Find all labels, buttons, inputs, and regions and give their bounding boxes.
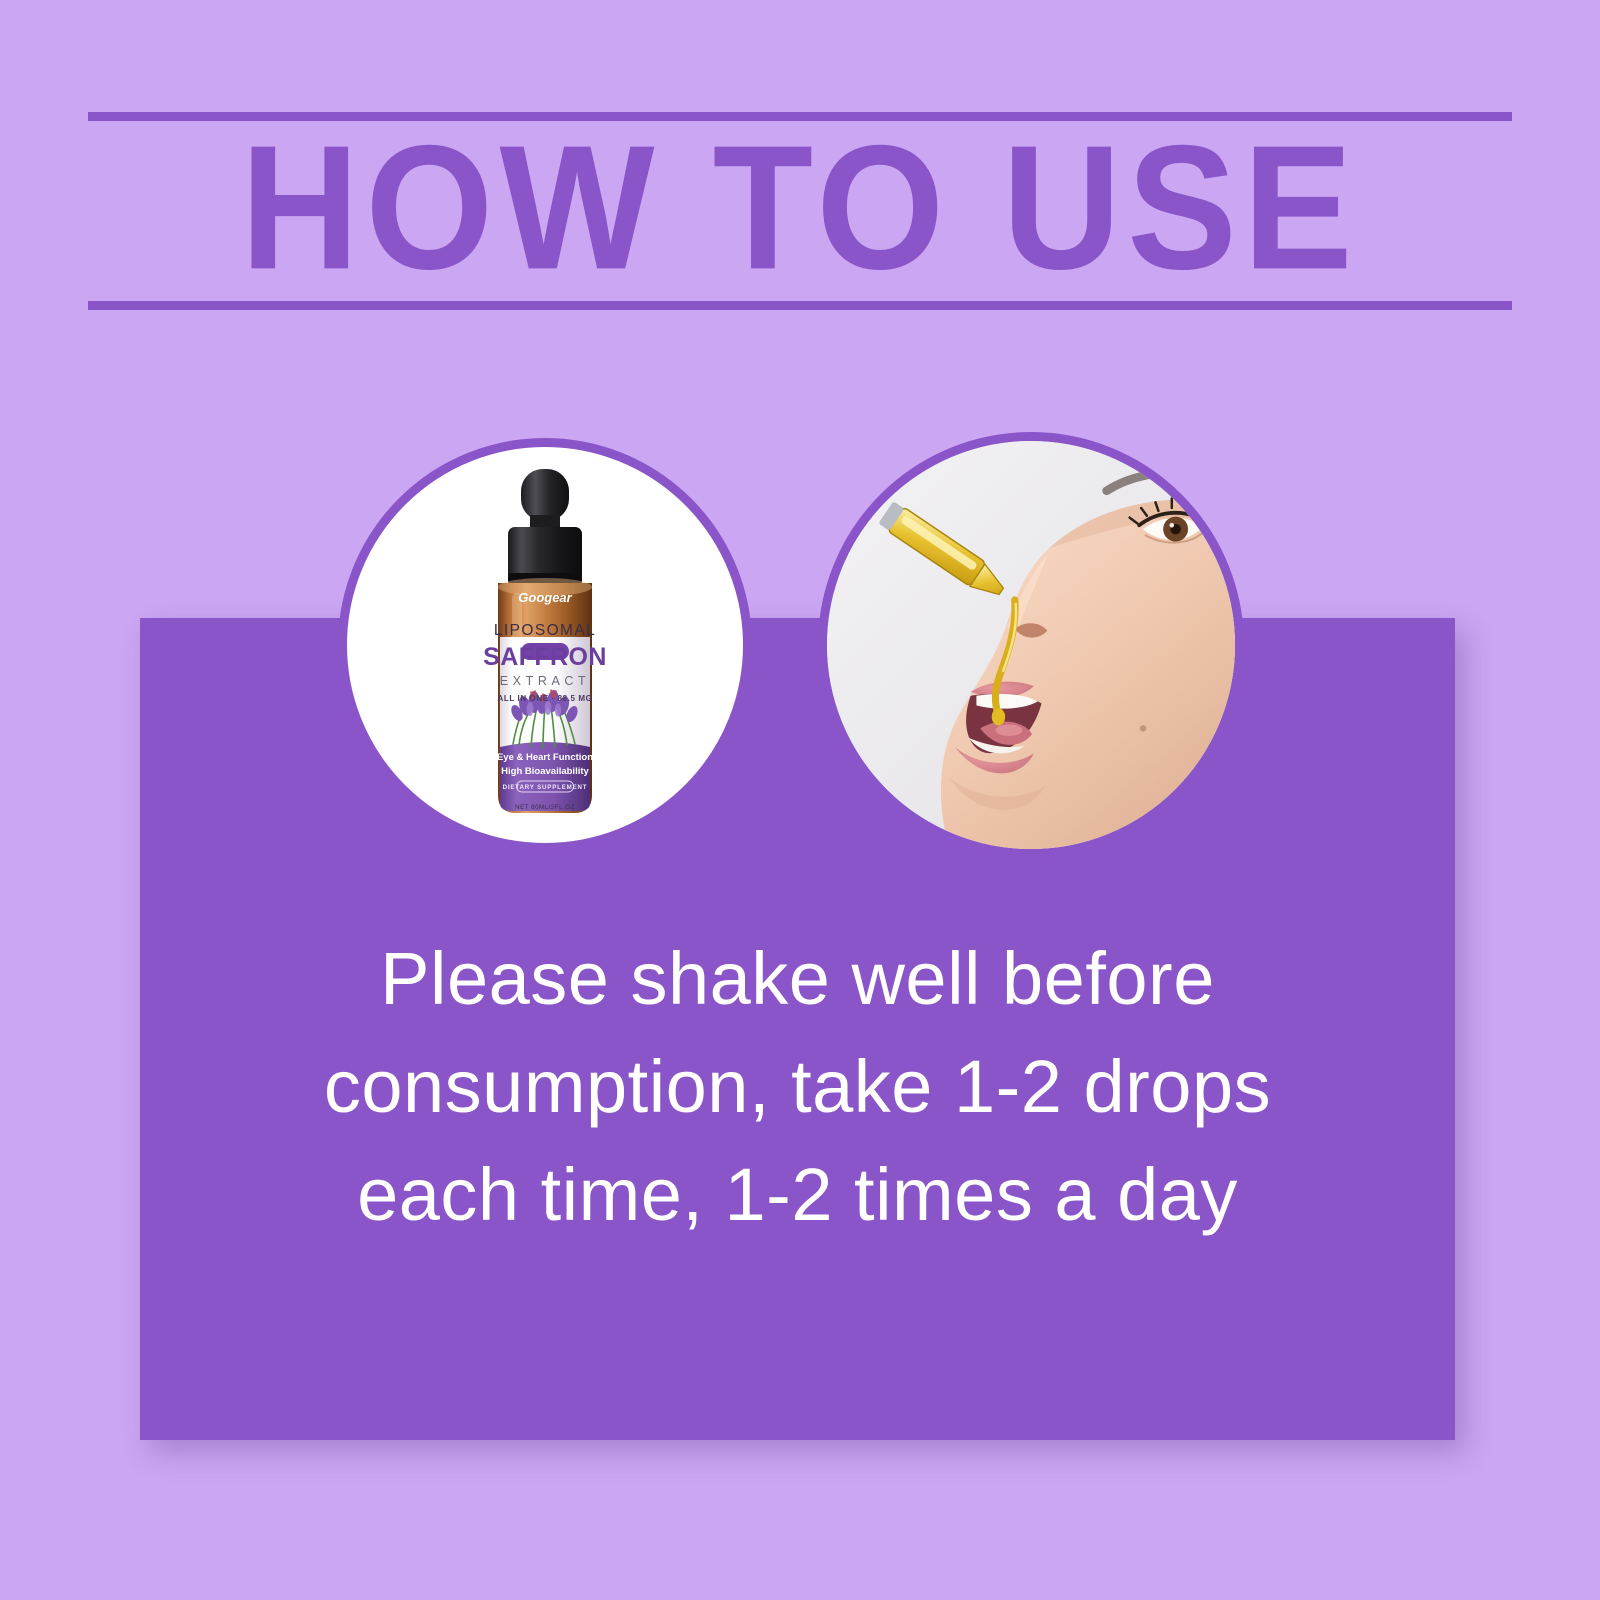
usage-illustration (827, 441, 1235, 849)
header-bottom-rule (88, 301, 1512, 310)
usage-demonstration-photo (818, 432, 1244, 858)
label-saffron: SAFFRON (420, 645, 670, 670)
label-brand: Googear (420, 591, 670, 604)
label-benefit-1: Eye & Heart Function (420, 753, 670, 763)
instruction-text: Please shake well before consumption, ta… (140, 925, 1455, 1249)
instruction-line-3: each time, 1-2 times a day (140, 1141, 1455, 1249)
label-benefit-2: High Bioavailability (420, 767, 670, 777)
instruction-line-1: Please shake well before (140, 925, 1455, 1033)
label-liposomal: LIPOSOMAL (420, 623, 670, 639)
header-banner: HOW TO USE (88, 112, 1512, 310)
label-supplement: DIETARY SUPPLEMENT (420, 785, 670, 791)
dropper-bottle-illustration: Googear LIPOSOMAL SAFFRON EXTRACT ALL IN… (420, 465, 670, 825)
page-title-text: HOW TO USE (241, 119, 1359, 296)
label-dosage: ALL IN ONE · 88.5 MG (420, 695, 670, 703)
label-extract: EXTRACT (420, 675, 670, 688)
label-net-content: NET 60ML/2FL.OZ (420, 805, 670, 811)
instruction-line-2: consumption, take 1-2 drops (140, 1033, 1455, 1141)
page-title: HOW TO USE (88, 129, 1512, 287)
product-bottle-photo: Googear LIPOSOMAL SAFFRON EXTRACT ALL IN… (338, 438, 752, 852)
